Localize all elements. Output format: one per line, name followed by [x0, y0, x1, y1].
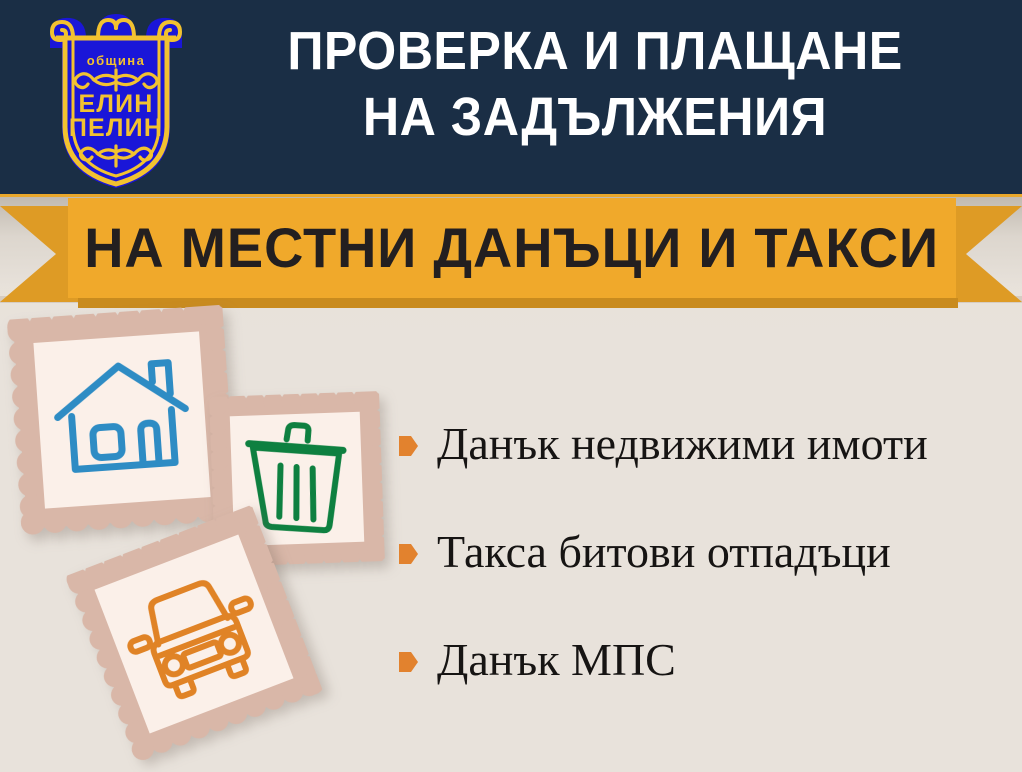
list-item-label: Такса битови отпадъци: [437, 526, 891, 578]
arrow-bullet-icon: [398, 650, 419, 674]
arrow-bullet-icon: [398, 542, 419, 566]
stamp-card-house: [7, 305, 238, 536]
arrow-bullet-icon: [398, 434, 419, 458]
list-item-label: Данък недвижими имоти: [437, 418, 928, 470]
list-item-label: Данък МПС: [437, 634, 676, 686]
list-item[interactable]: Данък недвижими имоти: [398, 418, 1018, 470]
list-item[interactable]: Данък МПС: [398, 634, 1018, 686]
stamp-collage: [0, 0, 420, 772]
poster-canvas: община ЕЛИН ПЕЛИН: [0, 0, 1022, 772]
tax-type-list: Данък недвижими имоти Такса битови отпад…: [398, 418, 1018, 686]
list-item[interactable]: Такса битови отпадъци: [398, 526, 1018, 578]
